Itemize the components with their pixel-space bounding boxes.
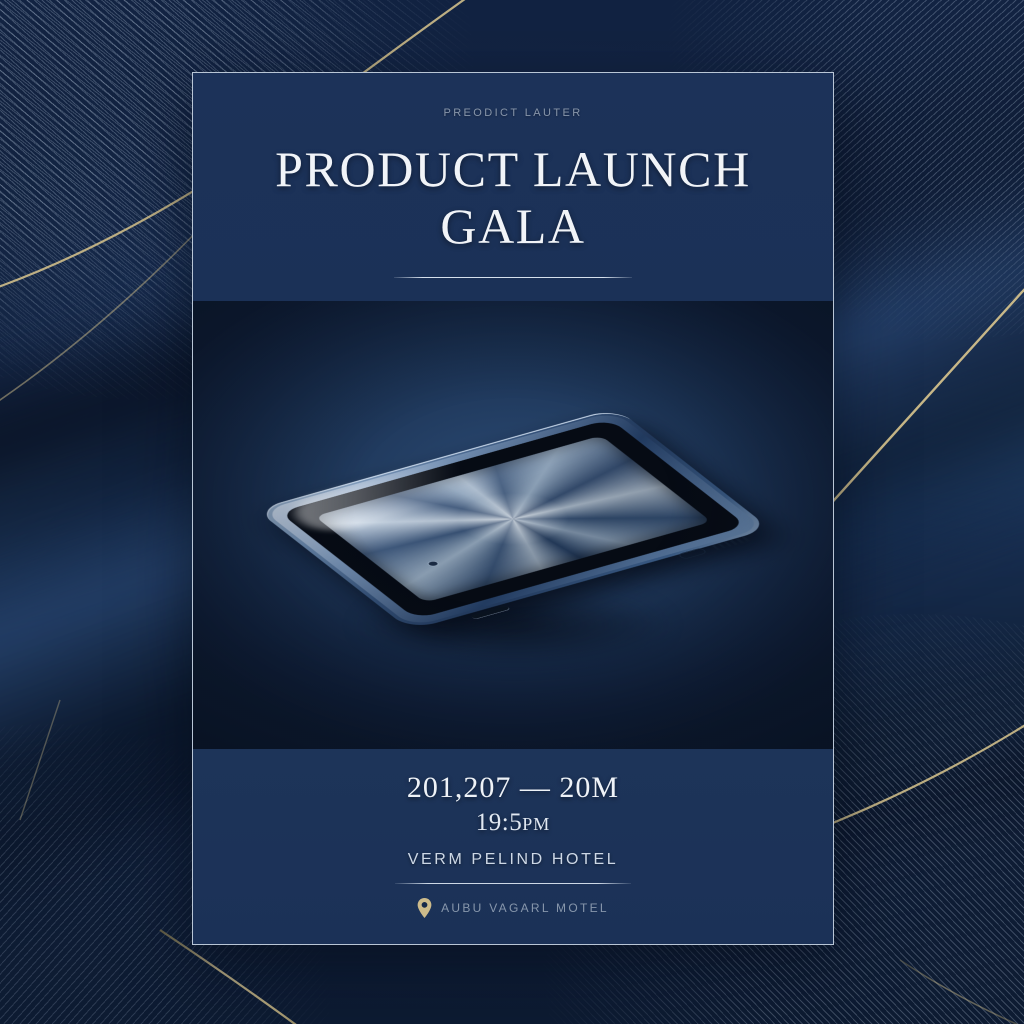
poster-canvas: PREODICT LAUTER PRODUCT LAUNCH GALA [0, 0, 1024, 1024]
poster-card: PREODICT LAUTER PRODUCT LAUNCH GALA [192, 72, 834, 945]
event-time: 19:5PM [233, 809, 793, 837]
title-divider [394, 277, 632, 278]
product-image [193, 301, 833, 749]
title-line-2: GALA [233, 198, 793, 255]
event-date: 201,207 — 20M [233, 771, 793, 805]
event-time-value: 19:5 [476, 809, 522, 836]
poster-kicker: PREODICT LAUTER [233, 107, 793, 119]
event-venue: VERM PELIND HOTEL [233, 851, 793, 869]
poster-header: PREODICT LAUTER PRODUCT LAUNCH GALA [193, 73, 833, 301]
image-vignette [193, 301, 833, 749]
map-pin-icon [417, 898, 432, 918]
event-location-text: AUBU VAGARL MOTEL [441, 901, 609, 915]
details-divider [395, 883, 631, 884]
event-location-row: AUBU VAGARL MOTEL [233, 898, 793, 918]
poster-details: 201,207 — 20M 19:5PM VERM PELIND HOTEL A… [193, 749, 833, 942]
title-line-1: PRODUCT LAUNCH [233, 141, 793, 198]
event-time-ampm: PM [522, 814, 550, 834]
page-title: PRODUCT LAUNCH GALA [233, 141, 793, 255]
